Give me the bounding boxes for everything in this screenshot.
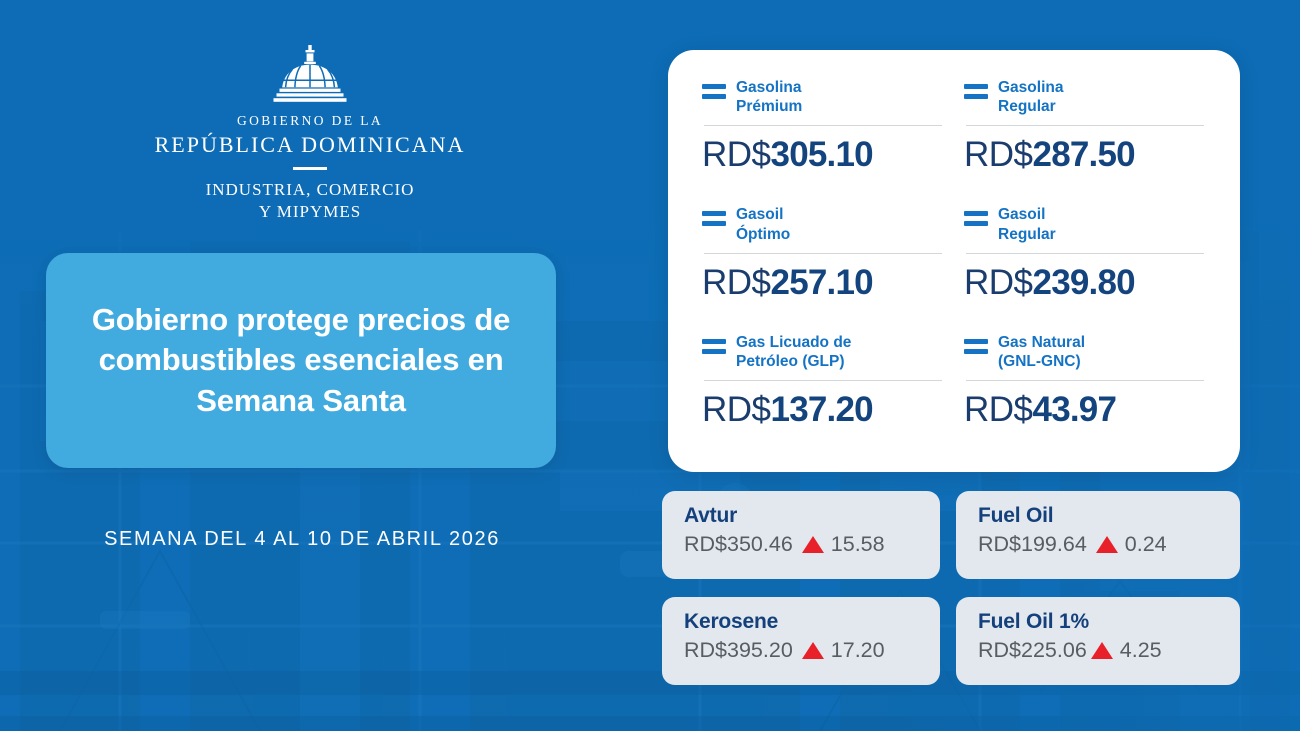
secondary-fuel-change: 17.20 [831,638,885,663]
secondary-fuel-row: RD$350.46 15.58 [684,532,920,557]
secondary-fuel-change: 15.58 [831,532,885,557]
logo-line-1: GOBIERNO DE LA [237,113,383,129]
price-value: 239.80 [1033,263,1135,302]
secondary-fuel-price: RD$225.06 [978,638,1087,663]
fuel-cell-gasoil-optimo: Gasoil Óptimo RD$257.10 [692,199,954,326]
logo-line-2: REPÚBLICA DOMINICANA [155,132,466,158]
price-value: 137.20 [771,390,873,429]
equals-icon [964,84,988,99]
currency-prefix: RD$ [702,135,771,174]
fuel-price: RD$287.50 [964,135,1206,175]
secondary-fuel-row: RD$225.06 4.25 [978,638,1220,663]
fuel-label: Gasolina Prémium [736,78,802,116]
price-value: 257.10 [771,263,873,302]
fuel-price: RD$43.97 [964,390,1206,430]
left-column: GOBIERNO DE LA REPÚBLICA DOMINICANA INDU… [0,0,660,731]
equals-icon [702,211,726,226]
page-title: Gobierno protege precios de combustibles… [46,300,556,421]
fuel-divider [704,125,942,126]
fuel-divider [704,253,942,254]
price-value: 43.97 [1033,390,1117,429]
secondary-fuel-row: RD$395.20 17.20 [684,638,920,663]
currency-prefix: RD$ [702,263,771,302]
currency-prefix: RD$ [702,390,771,429]
secondary-fuel-price: RD$395.20 [684,638,793,663]
currency-prefix: RD$ [964,390,1033,429]
fuel-price: RD$137.20 [702,390,944,430]
secondary-fuel-change: 0.24 [1125,532,1167,557]
secondary-fuel-title: Fuel Oil 1% [978,610,1220,634]
secondary-fuel-card-fuel-oil: Fuel Oil RD$199.64 0.24 [956,491,1240,579]
secondary-fuel-card-kerosene: Kerosene RD$395.20 17.20 [662,597,940,685]
equals-icon [702,84,726,99]
currency-prefix: RD$ [964,135,1033,174]
fuel-price: RD$257.10 [702,263,944,303]
fuel-cell-gasolina-premium: Gasolina Prémium RD$305.10 [692,72,954,199]
fuel-label: Gas Licuado de Petróleo (GLP) [736,333,851,371]
currency-prefix: RD$ [964,263,1033,302]
fuel-divider [966,125,1204,126]
triangle-up-icon [802,536,824,553]
fuel-cell-glp: Gas Licuado de Petróleo (GLP) RD$137.20 [692,327,954,454]
secondary-fuel-row: RD$199.64 0.24 [978,532,1220,557]
fuel-label: Gasoil Óptimo [736,205,790,243]
secondary-fuel-title: Kerosene [684,610,920,634]
fuel-divider [966,253,1204,254]
fuel-cell-gas-natural: Gas Natural (GNL-GNC) RD$43.97 [954,327,1216,454]
triangle-up-icon [1091,642,1113,659]
price-value: 287.50 [1033,135,1135,174]
fuel-price: RD$305.10 [702,135,944,175]
triangle-up-icon [1096,536,1118,553]
secondary-fuel-price: RD$350.46 [684,532,793,557]
headline-card: Gobierno protege precios de combustibles… [46,253,556,468]
fuel-price: RD$239.80 [964,263,1206,303]
fuel-divider [704,380,942,381]
price-value: 305.10 [771,135,873,174]
triangle-up-icon [802,642,824,659]
logo-line-3: INDUSTRIA, COMERCIO Y MIPYMES [206,179,415,224]
fuel-divider [966,380,1204,381]
equals-icon [702,339,726,354]
fuel-label: Gasoil Regular [998,205,1056,243]
secondary-fuel-title: Avtur [684,504,920,528]
equals-icon [964,211,988,226]
government-logo: GOBIERNO DE LA REPÚBLICA DOMINICANA INDU… [0,44,620,223]
fuel-price-panel: Gasolina Prémium RD$305.10 Gasolina Regu… [668,50,1240,472]
fuel-label: Gasolina Regular [998,78,1063,116]
week-date-label: SEMANA DEL 4 AL 10 DE ABRIL 2026 [0,528,604,551]
secondary-fuel-change: 4.25 [1120,638,1162,663]
secondary-fuel-card-avtur: Avtur RD$350.46 15.58 [662,491,940,579]
equals-icon [964,339,988,354]
logo-divider [293,167,327,170]
fuel-label: Gas Natural (GNL-GNC) [998,333,1085,371]
fuel-cell-gasolina-regular: Gasolina Regular RD$287.50 [954,72,1216,199]
dome-icon [264,44,356,104]
secondary-fuel-price: RD$199.64 [978,532,1087,557]
secondary-fuel-card-fuel-oil-1: Fuel Oil 1% RD$225.06 4.25 [956,597,1240,685]
secondary-fuel-title: Fuel Oil [978,504,1220,528]
fuel-cell-gasoil-regular: Gasoil Regular RD$239.80 [954,199,1216,326]
